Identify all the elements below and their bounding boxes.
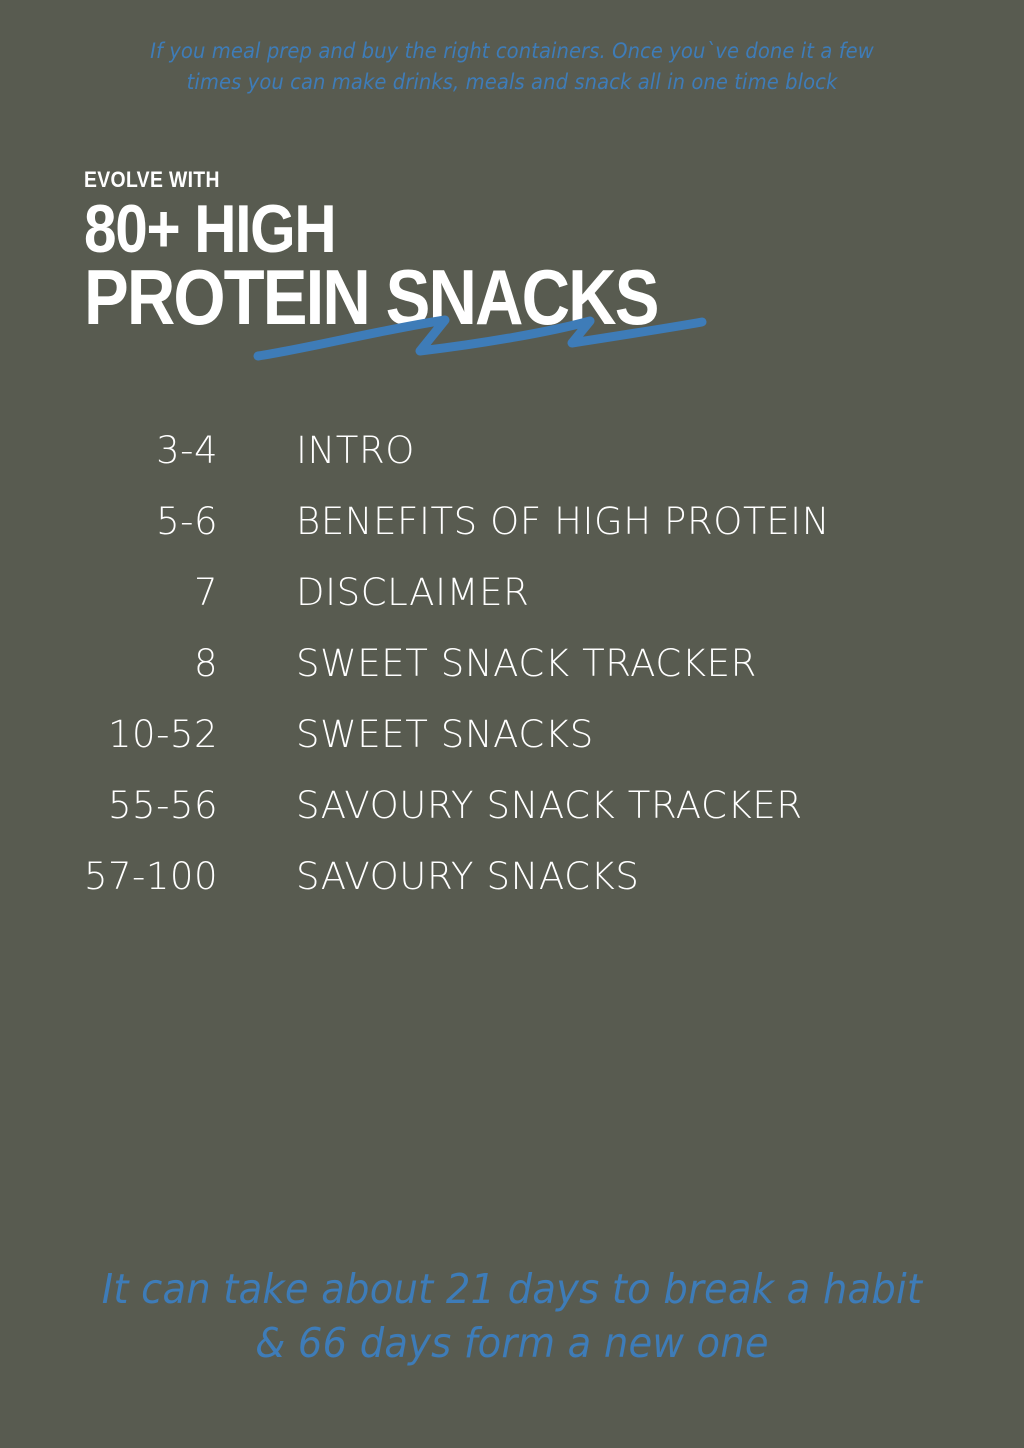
toc-page-range: 3-4 (0, 429, 218, 472)
toc-entry-label: DISCLAIMER (296, 571, 529, 614)
toc-row[interactable]: 5-6 BENEFITS OF HIGH PROTEIN (0, 500, 1024, 571)
bottom-tagline-line-2: & 66 days form a new one (31, 1316, 994, 1370)
bottom-tagline-line-1: It can take about 21 days to break a hab… (31, 1262, 994, 1316)
toc-entry-label: SWEET SNACK TRACKER (296, 642, 757, 685)
toc-row[interactable]: 3-4 INTRO (0, 429, 1024, 500)
page-title-line-1: 80+ HIGH (84, 198, 824, 260)
toc-entry-label: SAVOURY SNACK TRACKER (296, 784, 803, 827)
toc-entry-label: BENEFITS OF HIGH PROTEIN (296, 500, 830, 543)
table-of-contents: 3-4 INTRO 5-6 BENEFITS OF HIGH PROTEIN 7… (0, 429, 1024, 926)
toc-entry-label: INTRO (296, 429, 415, 472)
toc-entry-label: SAVOURY SNACKS (296, 855, 640, 898)
top-tagline-line-2: times you can make drinks, meals and sna… (36, 67, 988, 98)
toc-row[interactable]: 55-56 SAVOURY SNACK TRACKER (0, 784, 1024, 855)
top-tagline-line-1: If you meal prep and buy the right conta… (36, 36, 988, 67)
top-tagline: If you meal prep and buy the right conta… (0, 36, 1024, 98)
toc-page-range: 8 (0, 642, 218, 685)
bottom-tagline: It can take about 21 days to break a hab… (0, 1262, 1024, 1370)
toc-page-range: 10-52 (0, 713, 218, 756)
eyebrow-text: EVOLVE WITH (84, 168, 841, 192)
page-title-line-2: PROTEIN SNACKS (84, 262, 824, 332)
page-canvas: If you meal prep and buy the right conta… (0, 0, 1024, 1448)
toc-page-range: 7 (0, 571, 218, 614)
masthead: EVOLVE WITH 80+ HIGH PROTEIN SNACKS (84, 168, 944, 332)
toc-row[interactable]: 7 DISCLAIMER (0, 571, 1024, 642)
toc-page-range: 55-56 (0, 784, 218, 827)
toc-row[interactable]: 8 SWEET SNACK TRACKER (0, 642, 1024, 713)
toc-entry-label: SWEET SNACKS (296, 713, 594, 756)
toc-row[interactable]: 57-100 SAVOURY SNACKS (0, 855, 1024, 926)
toc-page-range: 5-6 (0, 500, 218, 543)
toc-page-range: 57-100 (0, 855, 218, 898)
toc-row[interactable]: 10-52 SWEET SNACKS (0, 713, 1024, 784)
